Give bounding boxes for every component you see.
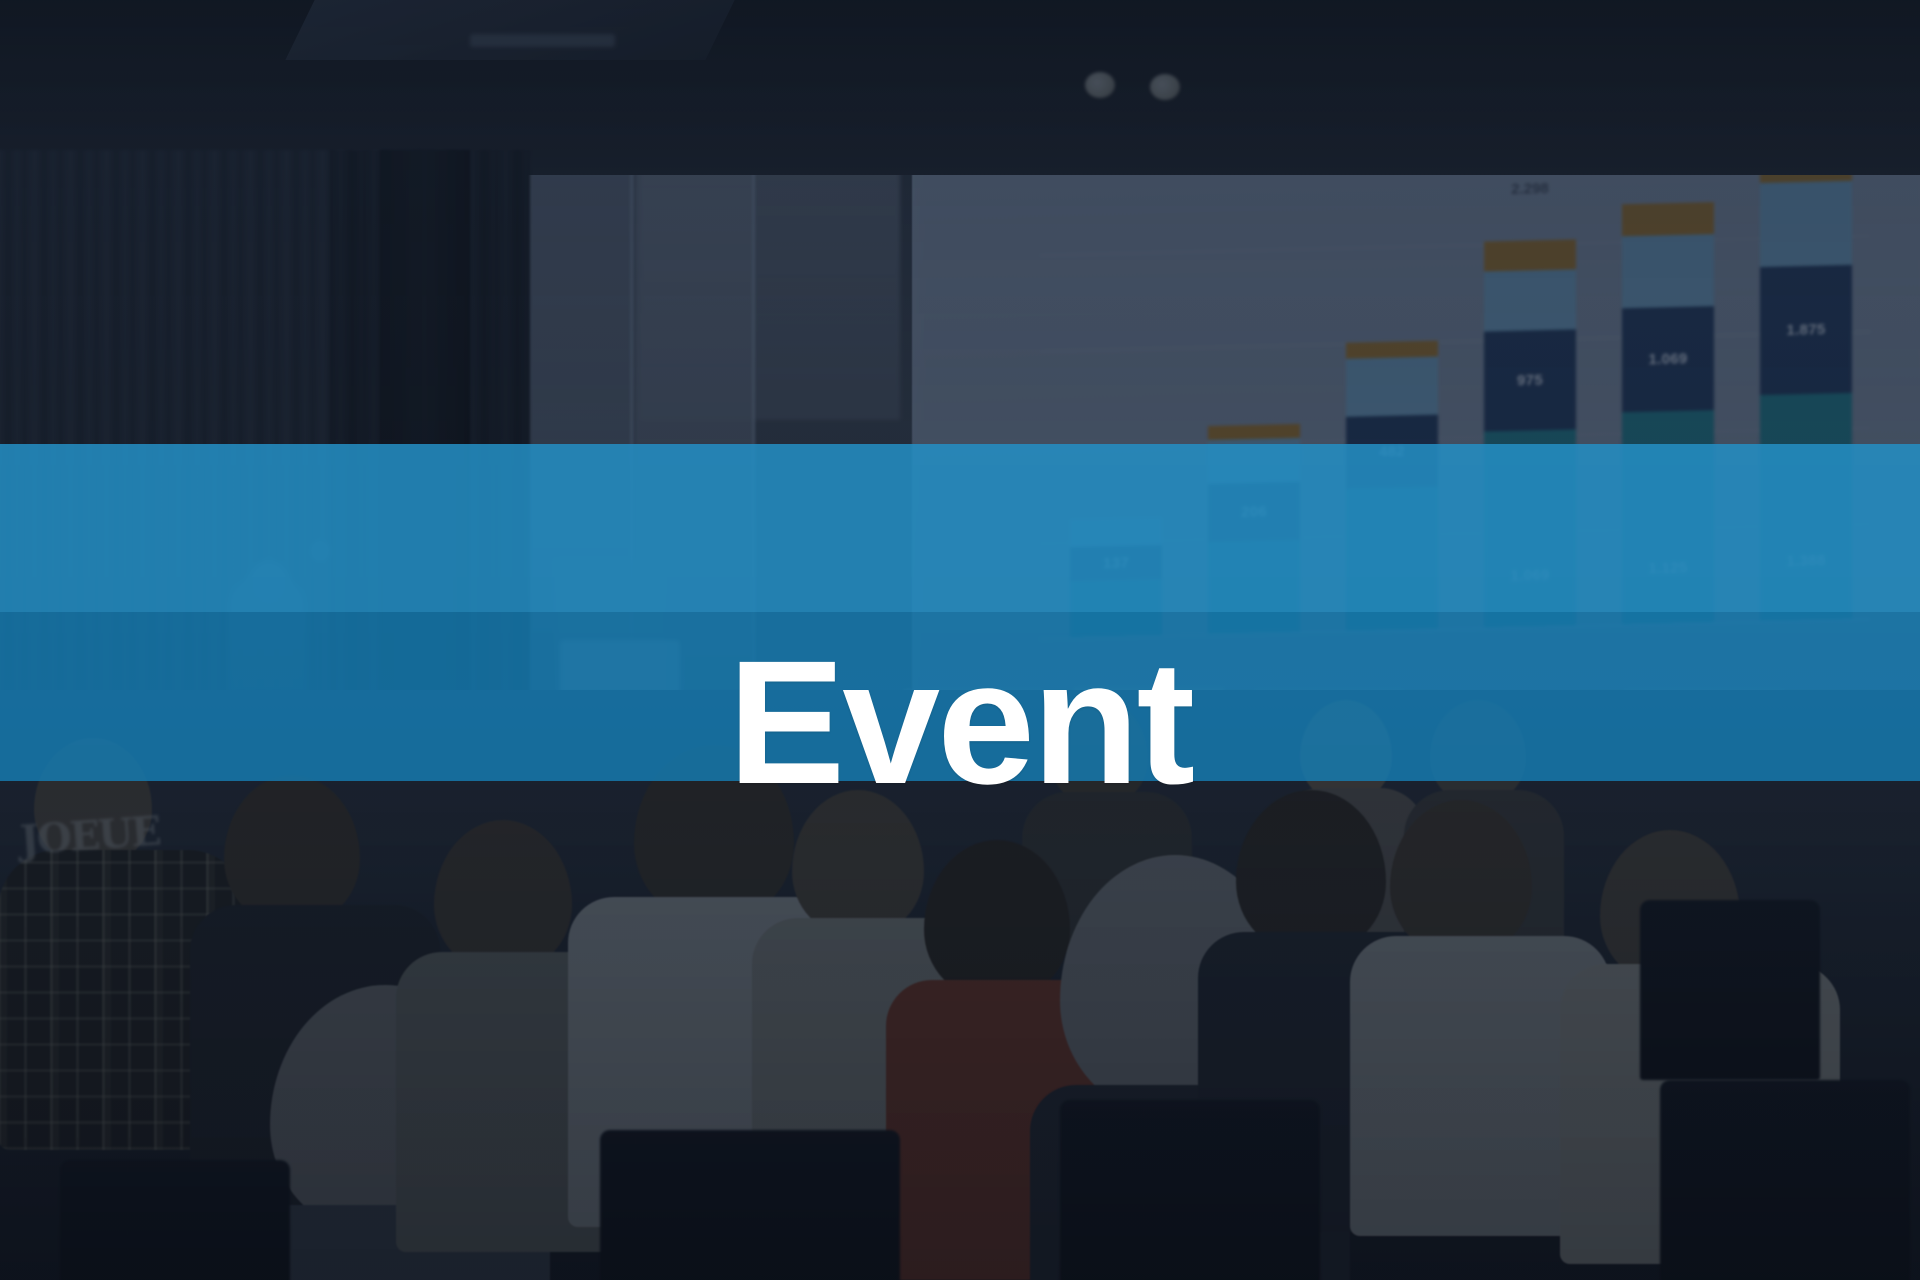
title-band-highlight	[0, 444, 1920, 612]
page-title: Event	[0, 635, 1920, 811]
event-hero-banner: 137 206 482	[0, 0, 1920, 1280]
